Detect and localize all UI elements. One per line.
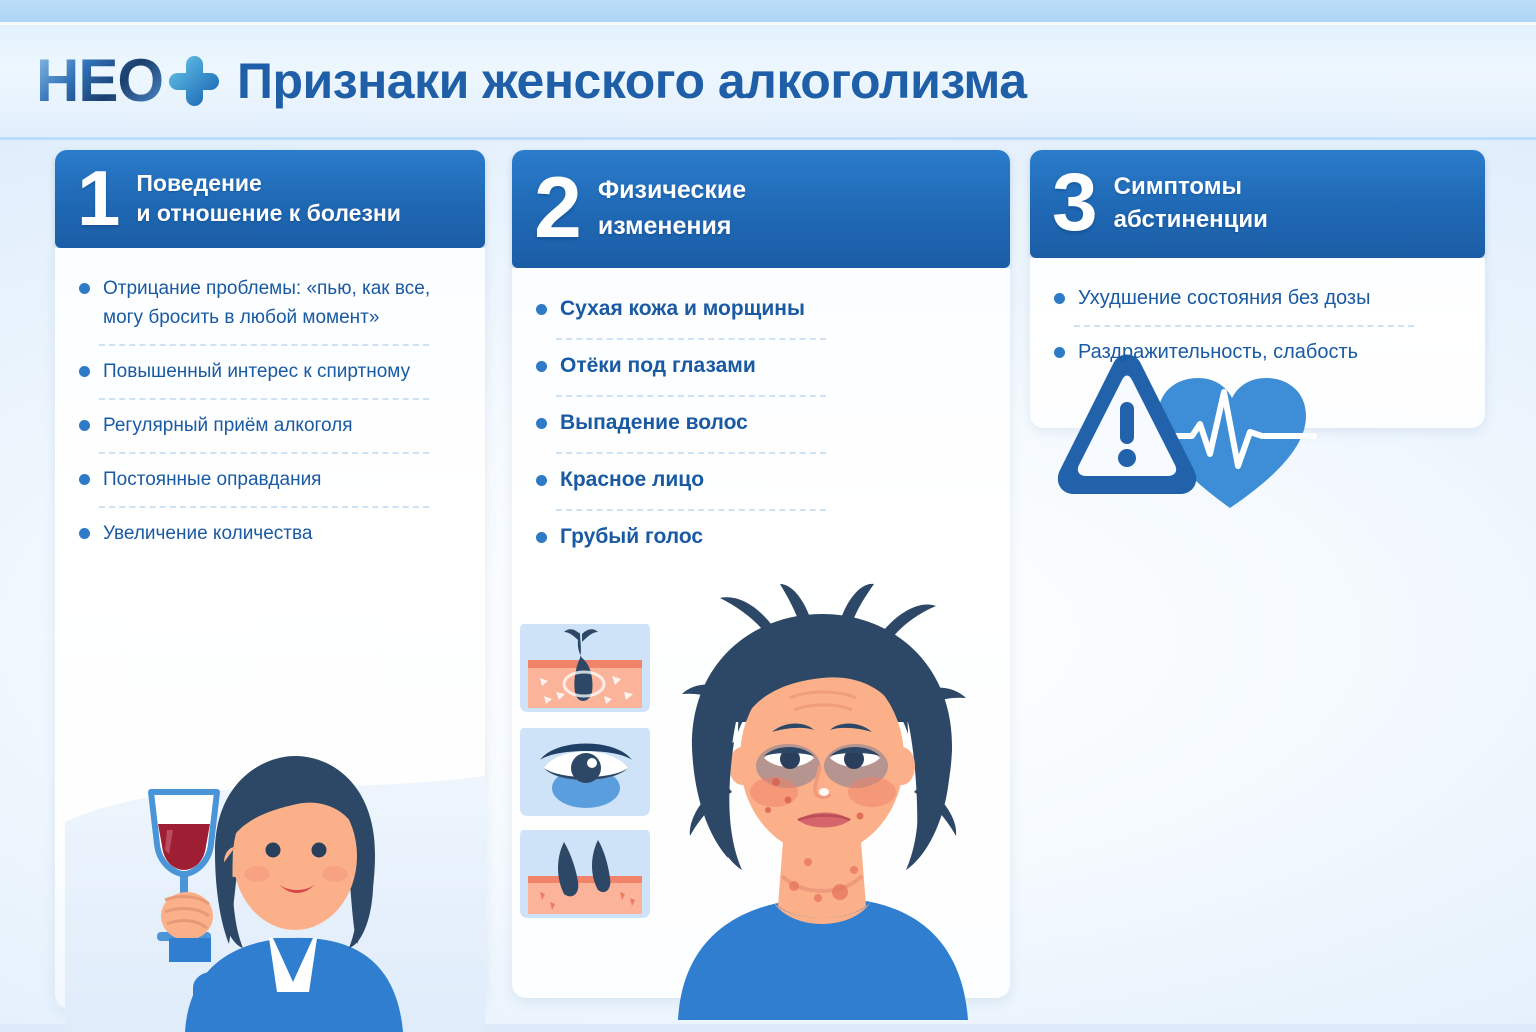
card-title-1: Поведение и отношение к болезни: [136, 168, 401, 228]
card-behavior: 1 Поведение и отношение к болезни Отрица…: [55, 150, 485, 1008]
list-item: Красное лицо: [534, 452, 988, 509]
symptom-list-3: Ухудшение состояния без дозы Раздражител…: [1052, 284, 1463, 379]
infographic-page: НЕО Признаки женского алкоголизма 1 Пове…: [0, 0, 1536, 1024]
hair-loss-icon: [520, 830, 650, 918]
list-item: Выпадение волос: [534, 395, 988, 452]
list-item: Повышенный интерес к спиртному: [77, 344, 463, 398]
bullet-icon: [536, 475, 547, 486]
bullet-icon: [1054, 293, 1065, 304]
bullet-icon: [536, 304, 547, 315]
list-item-text: Раздражительность, слабость: [1078, 341, 1358, 363]
bullet-icon: [1054, 347, 1065, 358]
plus-icon: [169, 56, 219, 106]
page-title: Признаки женского алкоголизма: [237, 52, 1027, 110]
bullet-icon: [79, 366, 90, 377]
card-1-bg-curve: [55, 748, 485, 1008]
symptom-list-2: Сухая кожа и морщины Отёки под глазами В…: [534, 294, 988, 566]
list-item: Увеличение количества: [77, 506, 463, 560]
brand-logo: НЕО: [36, 50, 219, 112]
card-number-2: 2: [534, 167, 582, 249]
list-item: Регулярный приём алкоголя: [77, 398, 463, 452]
card-title-2-line1: Физические: [598, 176, 746, 204]
bullet-icon: [79, 528, 90, 539]
list-item-text: Регулярный приём алкоголя: [103, 415, 353, 436]
list-item: Отрицание проблемы: «пью, как все, могу …: [77, 274, 463, 344]
list-item: Отёки под глазами: [534, 338, 988, 395]
card-body-1: Отрицание проблемы: «пью, как все, могу …: [55, 248, 485, 1008]
medical-icons-strip: [520, 618, 650, 918]
list-item-text: Ухудшение состояния без дозы: [1078, 287, 1370, 309]
card-title-2: Физические изменения: [598, 172, 746, 244]
card-number-1: 1: [77, 161, 120, 235]
symptom-list-1: Отрицание проблемы: «пью, как все, могу …: [77, 274, 463, 560]
list-item-text: Красное лицо: [560, 468, 704, 491]
list-item-text: Отрицание проблемы: «пью, как все, могу …: [103, 278, 430, 328]
card-header-2: 2 Физические изменения: [512, 150, 1010, 268]
page-header: НЕО Признаки женского алкоголизма: [0, 22, 1536, 140]
card-header-1: 1 Поведение и отношение к болезни: [55, 150, 485, 248]
list-item-text: Отёки под глазами: [560, 354, 756, 377]
bullet-icon: [536, 418, 547, 429]
card-number-3: 3: [1052, 164, 1098, 242]
list-item-text: Повышенный интерес к спиртному: [103, 361, 410, 382]
card-withdrawal-symptoms: 3 Симптомы абстиненции Ухудшение состоян…: [1030, 150, 1485, 428]
card-title-1-line1: Поведение: [136, 170, 261, 196]
bullet-icon: [79, 283, 90, 294]
card-title-1-line2: и отношение к болезни: [136, 198, 401, 228]
list-item-text: Постоянные оправдания: [103, 469, 321, 490]
tired-woman-portrait-illustration: [632, 570, 1012, 1020]
card-body-2: Сухая кожа и морщины Отёки под глазами В…: [512, 268, 1010, 998]
card-title-2-line2: изменения: [598, 208, 746, 244]
list-item: Раздражительность, слабость: [1052, 325, 1463, 379]
list-item: Сухая кожа и морщины: [534, 294, 988, 338]
list-item-text: Выпадение волос: [560, 411, 748, 434]
list-item-text: Грубый голос: [560, 525, 703, 548]
list-item-text: Сухая кожа и морщины: [560, 297, 805, 320]
card-title-3: Симптомы абстиненции: [1114, 170, 1268, 236]
brand-logo-text: НЕО: [36, 51, 163, 111]
card-title-3-line2: абстиненции: [1114, 203, 1268, 236]
card-title-3-line1: Симптомы: [1114, 173, 1242, 200]
bullet-icon: [536, 532, 547, 543]
bullet-icon: [79, 420, 90, 431]
skin-follicle-icon: [520, 624, 650, 712]
list-item: Грубый голос: [534, 509, 988, 566]
bullet-icon: [79, 474, 90, 485]
list-item: Ухудшение состояния без дозы: [1052, 284, 1463, 325]
card-header-3: 3 Симптомы абстиненции: [1030, 150, 1485, 258]
card-physical-changes: 2 Физические изменения Сухая кожа и морщ…: [512, 150, 1010, 998]
top-strip: [0, 0, 1536, 22]
list-item: Постоянные оправдания: [77, 452, 463, 506]
swollen-eye-icon: [520, 728, 650, 816]
card-body-3: Ухудшение состояния без дозы Раздражител…: [1030, 258, 1485, 428]
bullet-icon: [536, 361, 547, 372]
columns-board: 1 Поведение и отношение к болезни Отрица…: [0, 150, 1536, 1024]
list-item-text: Увеличение количества: [103, 523, 312, 544]
